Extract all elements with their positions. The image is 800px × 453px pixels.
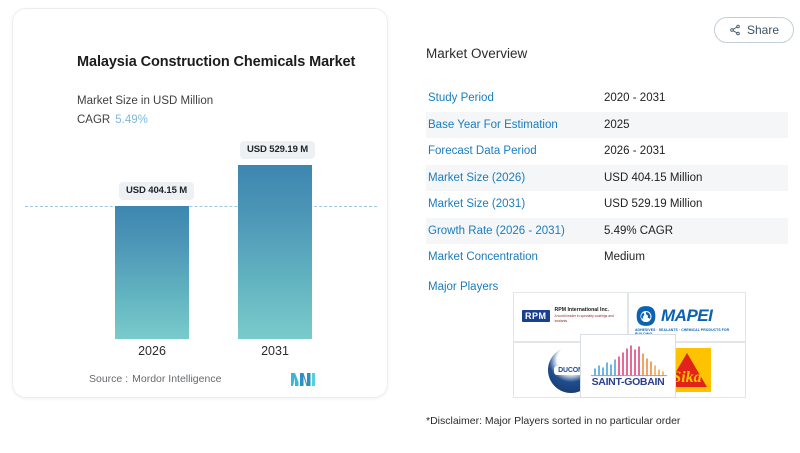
table-row: Market Size (2026) USD 404.15 Million: [426, 165, 788, 192]
cagr-value: 5.49%: [115, 114, 148, 126]
reference-dashed-line: [25, 206, 377, 207]
cagr-label: CAGR: [77, 114, 110, 126]
row-key: Market Concentration: [426, 251, 604, 263]
row-value: USD 404.15 Million: [604, 172, 702, 184]
bar-value-label-2026: USD 404.15 M: [119, 182, 194, 200]
major-players-logo-grid: RPM RPM International Inc. A world leade…: [508, 292, 748, 400]
mapei-logo-icon: MAPEI: [635, 305, 712, 327]
row-key: Base Year For Estimation: [426, 119, 604, 131]
page-root: Malaysia Construction Chemicals Market M…: [0, 0, 800, 453]
market-overview-table: Study Period 2020 - 2031 Base Year For E…: [426, 85, 788, 271]
row-key: Study Period: [426, 92, 604, 104]
row-value: USD 529.19 Million: [604, 198, 702, 210]
x-axis-tick-2031: 2031: [238, 344, 312, 358]
rpm-company-name: RPM International Inc.: [555, 307, 628, 314]
table-row: Growth Rate (2026 - 2031) 5.49% CAGR: [426, 218, 788, 245]
bar-2031[interactable]: [238, 165, 312, 339]
row-value: 2026 - 2031: [604, 145, 665, 157]
players-disclaimer: *Disclaimer: Major Players sorted in no …: [426, 415, 680, 427]
mapei-wordmark: MAPEI: [661, 306, 712, 326]
saint-gobain-skyline-icon: [581, 341, 676, 381]
bar-value-label-2031: USD 529.19 M: [240, 141, 315, 159]
share-button-label: Share: [747, 23, 779, 37]
player-logo-saint-gobain: SAINT-GOBAIN: [580, 334, 676, 398]
market-overview-title: Market Overview: [426, 46, 527, 61]
mordor-intelligence-logo-icon: [290, 371, 316, 387]
chart-source: Source :Mordor Intelligence: [89, 373, 221, 385]
row-value: 5.49% CAGR: [604, 225, 673, 237]
table-row: Forecast Data Period 2026 - 2031: [426, 138, 788, 165]
row-key: Growth Rate (2026 - 2031): [426, 225, 604, 237]
bar-2026[interactable]: [115, 206, 189, 339]
table-row: Market Size (2031) USD 529.19 Million: [426, 191, 788, 218]
mapei-shield-icon: [635, 305, 657, 327]
table-row: Base Year For Estimation 2025: [426, 112, 788, 139]
rpm-logo-icon: RPM RPM International Inc. A world leade…: [522, 307, 627, 324]
row-key: Market Size (2026): [426, 172, 604, 184]
market-overview-panel: Share Market Overview Study Period 2020 …: [408, 0, 800, 453]
chart-card: Malaysia Construction Chemicals Market M…: [12, 8, 388, 398]
row-value: 2020 - 2031: [604, 92, 665, 104]
share-icon: [729, 24, 741, 36]
chart-cagr: CAGR5.49%: [77, 114, 148, 126]
source-name: Mordor Intelligence: [132, 373, 221, 385]
chart-title: Malaysia Construction Chemicals Market: [77, 53, 357, 72]
share-button[interactable]: Share: [714, 17, 794, 43]
source-label: Source :: [89, 373, 128, 385]
row-key: Market Size (2031): [426, 198, 604, 210]
rpm-wordmark: RPM: [522, 310, 550, 322]
row-key: Forecast Data Period: [426, 145, 604, 157]
bar-chart-plot: USD 404.15 M USD 529.19 M 2026 2031: [25, 139, 377, 339]
table-row: Study Period 2020 - 2031: [426, 85, 788, 112]
rpm-text-block: RPM International Inc. A world leader in…: [555, 307, 628, 324]
saint-gobain-logo-icon: SAINT-GOBAIN: [581, 335, 675, 397]
row-value: Medium: [604, 251, 645, 263]
chart-subtitle: Market Size in USD Million: [77, 95, 213, 107]
table-row: Market Concentration Medium: [426, 244, 788, 271]
x-axis-tick-2026: 2026: [115, 344, 189, 358]
rpm-tagline: A world leader in specialty coatings and…: [555, 314, 628, 324]
major-players-label: Major Players: [428, 281, 498, 293]
row-value: 2025: [604, 119, 630, 131]
saint-gobain-wordmark: SAINT-GOBAIN: [581, 376, 675, 388]
svg-text:Sika: Sika: [672, 369, 701, 386]
